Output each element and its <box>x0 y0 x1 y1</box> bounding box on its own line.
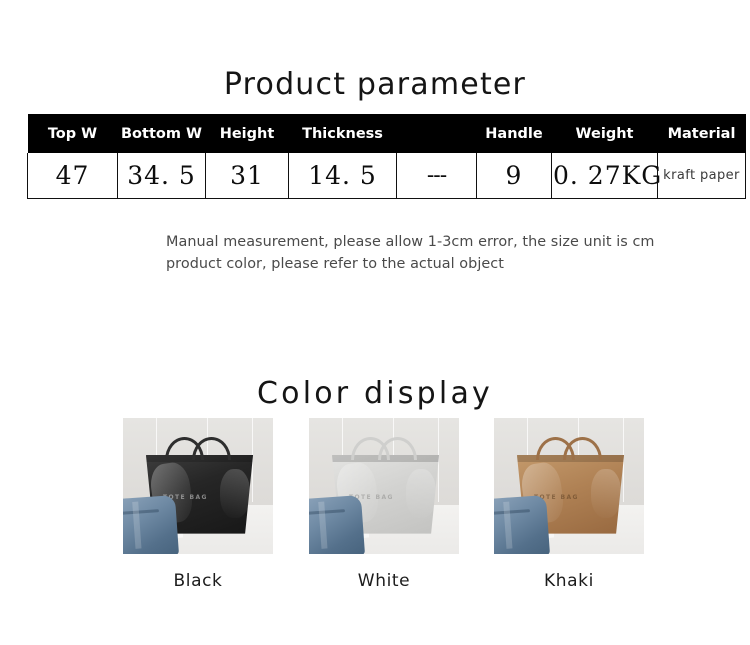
cell-weight: 0. 27KG <box>552 153 658 198</box>
column-header-height: Height <box>206 114 289 153</box>
column-header-material: Material <box>658 114 746 153</box>
table-header-row: Top W Bottom W Height Thickness Handle W… <box>28 114 746 153</box>
column-header-weight: Weight <box>552 114 658 153</box>
color-display-gallery: TOTE BAG Black TOTE BAG <box>0 418 750 603</box>
product-parameter-table: Top W Bottom W Height Thickness Handle W… <box>27 114 745 199</box>
cell-bottom-width: 34. 5 <box>118 153 206 198</box>
column-header-top-width: Top W <box>28 114 118 153</box>
cell-height: 31 <box>206 153 289 198</box>
measurement-note-line-2: product color, please refer to the actua… <box>166 253 741 275</box>
denim-prop <box>309 495 365 554</box>
measurement-note-line-1: Manual measurement, please allow 1-3cm e… <box>166 231 741 253</box>
column-header-handle: Handle <box>477 114 552 153</box>
denim-prop <box>123 495 179 554</box>
product-photo-white[interactable]: TOTE BAG <box>309 418 459 554</box>
color-option-white[interactable]: TOTE BAG White <box>309 418 464 591</box>
color-label-khaki: Khaki <box>494 571 644 591</box>
table-row: 47 34. 5 31 14. 5 --- 9 0. 27KG kraft pa… <box>28 153 746 198</box>
cell-material: kraft paper <box>658 153 746 198</box>
parameter-table: Top W Bottom W Height Thickness Handle W… <box>27 114 746 199</box>
color-display-title: Color display <box>0 376 750 411</box>
column-header-blank <box>397 114 477 153</box>
color-option-khaki[interactable]: TOTE BAG Khaki <box>494 418 649 591</box>
product-photo-black[interactable]: TOTE BAG <box>123 418 273 554</box>
cell-blank: --- <box>397 153 477 198</box>
color-label-black: Black <box>123 571 273 591</box>
column-header-thickness: Thickness <box>289 114 397 153</box>
cell-top-width: 47 <box>28 153 118 198</box>
cell-handle: 9 <box>477 153 552 198</box>
page-title: Product parameter <box>0 67 750 102</box>
denim-prop <box>494 495 550 554</box>
column-header-bottom-width: Bottom W <box>118 114 206 153</box>
product-photo-khaki[interactable]: TOTE BAG <box>494 418 644 554</box>
color-option-black[interactable]: TOTE BAG Black <box>123 418 278 591</box>
measurement-note: Manual measurement, please allow 1-3cm e… <box>166 231 741 275</box>
color-label-white: White <box>309 571 459 591</box>
cell-thickness: 14. 5 <box>289 153 397 198</box>
